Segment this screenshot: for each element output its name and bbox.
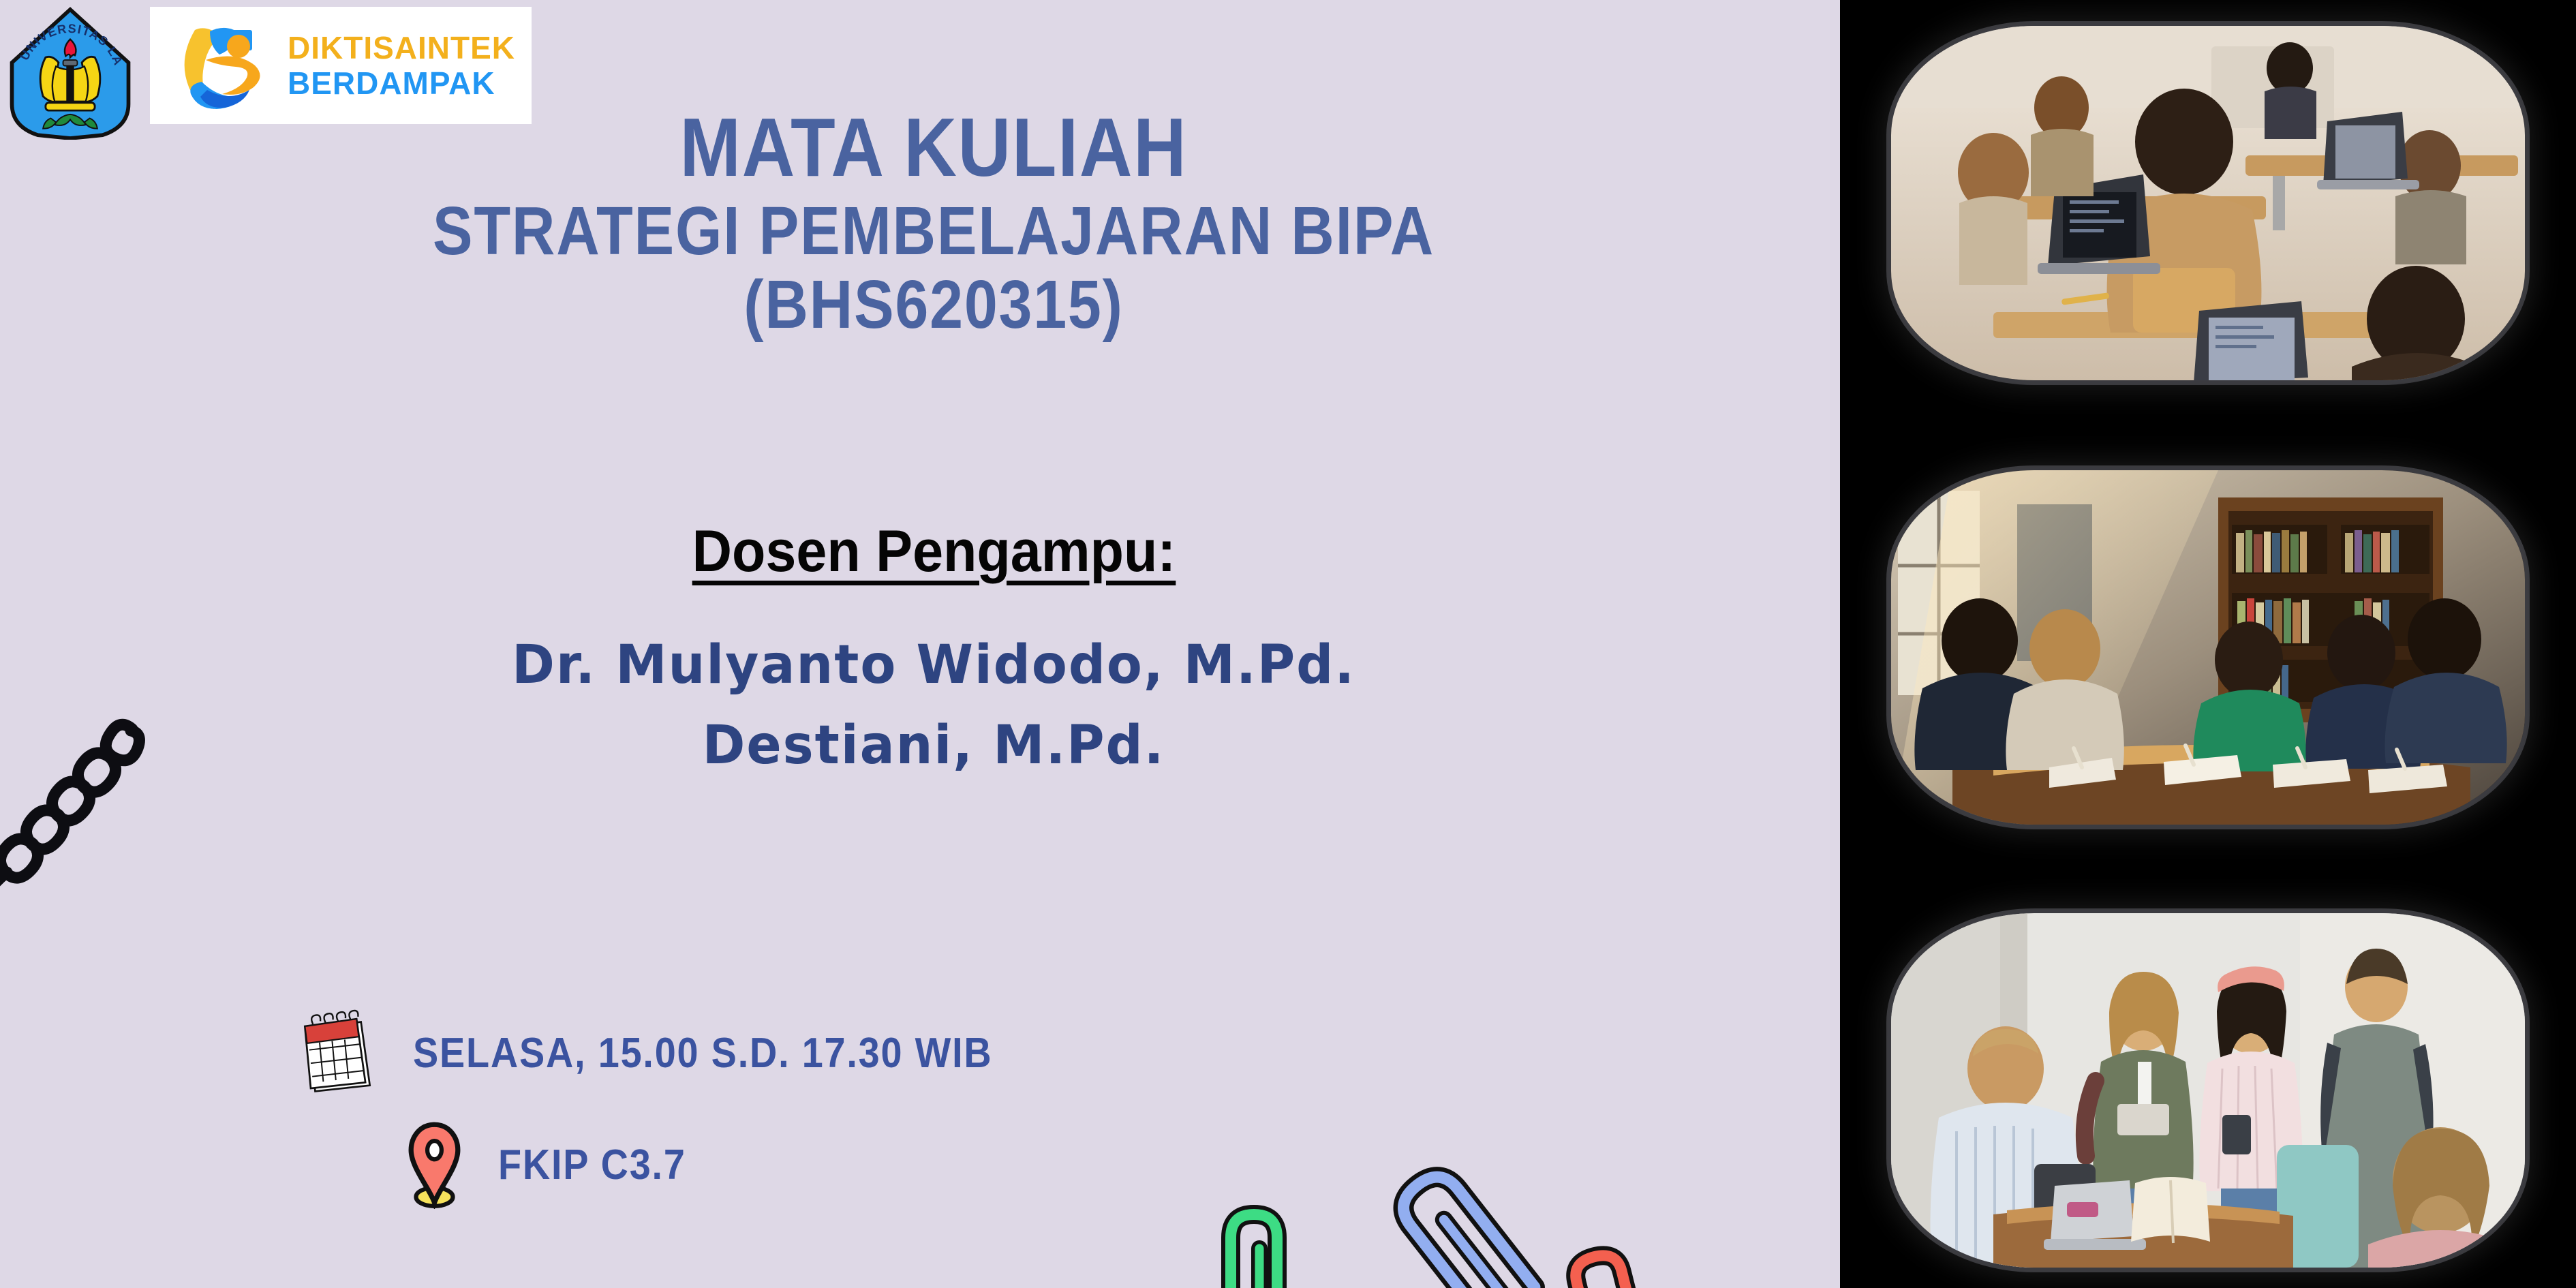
unila-shield-logo: UNIVERSITAS LAMPUNG xyxy=(5,7,135,140)
map-pin-icon xyxy=(402,1120,467,1209)
diktisaintek-wordmark: DIKTISAINTEK BERDAMPAK xyxy=(288,32,515,99)
content-pane: UNIVERSITAS LAMPUNG xyxy=(0,0,1840,1288)
diktisaintek-line1: DIKTISAINTEK xyxy=(288,32,515,63)
spiral-doodle-icon xyxy=(0,716,157,900)
diktisaintek-line2: BERDAMPAK xyxy=(288,67,515,99)
lecturer-heading: Dosen Pengampu: xyxy=(692,518,1176,585)
photo-classroom-laptops xyxy=(1891,26,2525,380)
course-code: (BHS620315) xyxy=(334,271,1533,339)
title-block: MATA KULIAH STRATEGI PEMBELAJARAN BIPA (… xyxy=(252,106,1615,339)
paperclip-doodle-icon xyxy=(1199,1104,1717,1288)
schedule-row: SELASA, 15.00 S.D. 17.30 WIB xyxy=(293,1009,1315,1097)
photo-panel xyxy=(1840,0,2576,1288)
photo-library-study-group xyxy=(1891,470,2525,825)
schedule-text: SELASA, 15.00 S.D. 17.30 WIB xyxy=(413,1029,993,1077)
calendar-icon xyxy=(293,1009,382,1097)
lecturer-name: Dr. Mulyanto Widodo, M.Pd. xyxy=(273,634,1595,696)
lecturer-block: Dosen Pengampu: Dr. Mulyanto Widodo, M.P… xyxy=(252,518,1615,776)
location-row: FKIP C3.7 xyxy=(293,1120,1315,1209)
lecturer-name: Destiani, M.Pd. xyxy=(273,715,1595,776)
location-text: FKIP C3.7 xyxy=(498,1141,686,1189)
course-title-main: MATA KULIAH xyxy=(334,106,1533,189)
poster-canvas: UNIVERSITAS LAMPUNG xyxy=(0,0,2576,1288)
info-block: SELASA, 15.00 S.D. 17.30 WIB FKIP C3.7 xyxy=(293,1009,1315,1209)
course-title-subject: STRATEGI PEMBELAJARAN BIPA xyxy=(334,197,1533,265)
diktisaintek-logo-icon xyxy=(170,18,273,113)
photo-classroom-discussion xyxy=(1891,913,2525,1268)
